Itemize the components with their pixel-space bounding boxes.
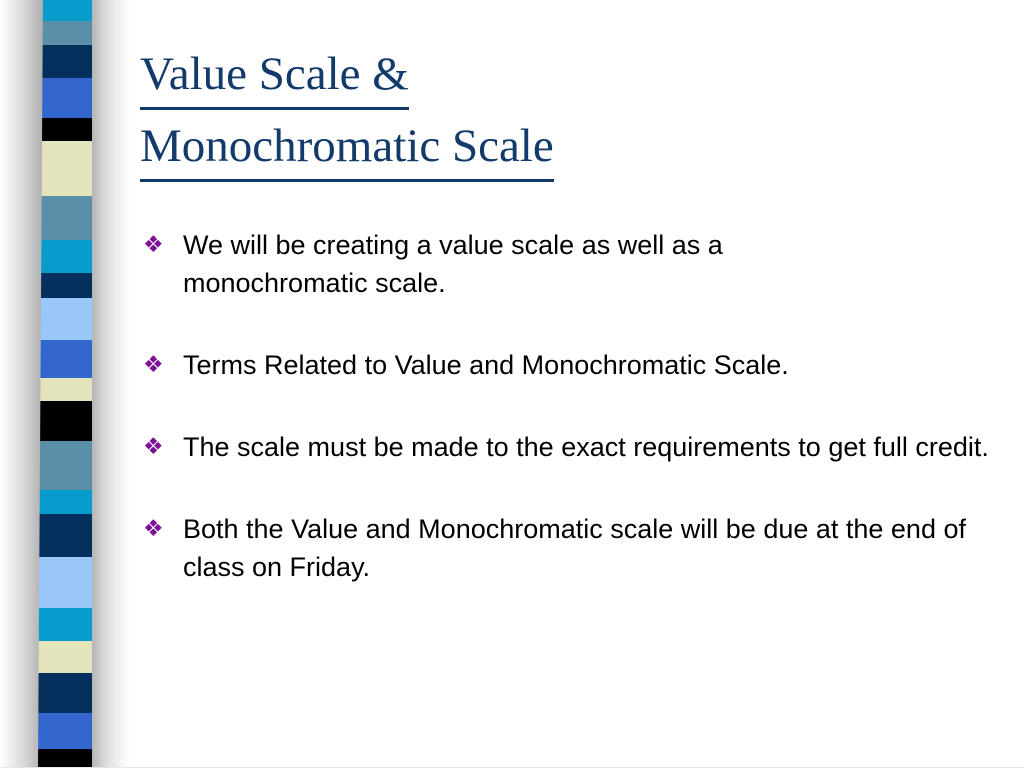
diamond-bullet-icon: ❖ — [140, 510, 183, 548]
bullet-item-1: ❖ We will be creating a value scale as w… — [140, 226, 1000, 302]
color-bar-bands — [38, 0, 100, 768]
slide-title-line-1: Value Scale & — [140, 42, 409, 110]
diamond-bullet-icon: ❖ — [140, 226, 183, 264]
bullet-item-4: ❖ Both the Value and Monochromatic scale… — [140, 510, 1000, 586]
slide-canvas: Value Scale & Monochromatic Scale ❖ We w… — [0, 0, 1024, 768]
bullet-text-2: Terms Related to Value and Monochromatic… — [183, 346, 1000, 384]
diamond-bullet-icon: ❖ — [140, 428, 183, 466]
left-color-bar — [0, 0, 130, 768]
bullet-text-1: We will be creating a value scale as wel… — [183, 226, 823, 302]
slide-title-line-2: Monochromatic Scale — [140, 114, 554, 182]
bullet-item-3: ❖ The scale must be made to the exact re… — [140, 428, 1000, 466]
color-bar-shadow-right — [92, 0, 130, 768]
bullet-list: ❖ We will be creating a value scale as w… — [140, 226, 1000, 630]
diamond-bullet-icon: ❖ — [140, 346, 183, 384]
slide-title: Value Scale & Monochromatic Scale — [140, 42, 840, 182]
bullet-text-3: The scale must be made to the exact requ… — [183, 428, 1000, 466]
bullet-item-2: ❖ Terms Related to Value and Monochromat… — [140, 346, 1000, 384]
bullet-text-4: Both the Value and Monochromatic scale w… — [183, 510, 983, 586]
